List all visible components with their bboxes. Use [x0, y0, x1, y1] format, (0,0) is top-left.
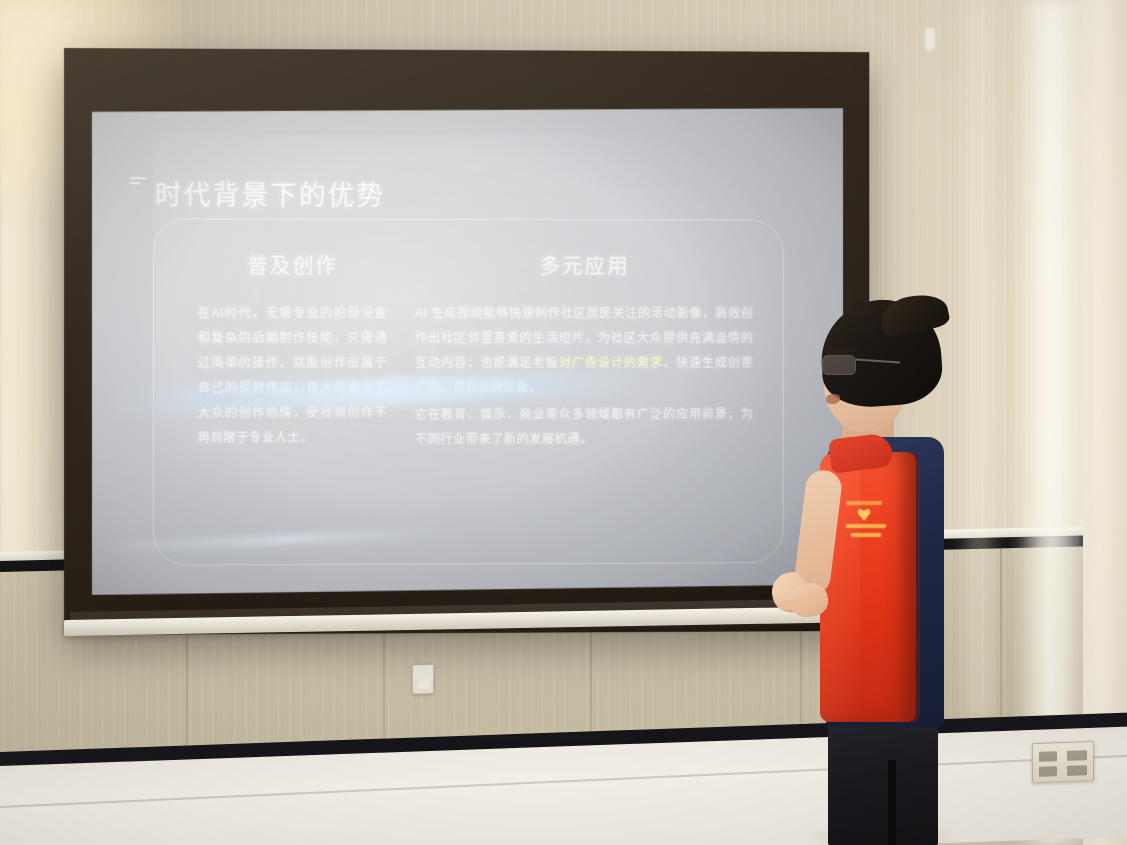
glasses-lens [822, 355, 856, 375]
emblem-text-top [846, 501, 882, 505]
heart-icon [857, 508, 871, 521]
hair-back [877, 289, 951, 338]
vest-shadow [896, 452, 920, 722]
volunteer-heart-emblem-icon [840, 498, 890, 544]
trouser-leg-gap [888, 760, 896, 845]
emblem-text-middle [846, 524, 886, 528]
presentation-room-photo: 时代背景下的优势 普及创作 在AI时代，无需专业的拍摄设备和复杂的后期制作技能，… [0, 0, 1127, 845]
emblem-text-bottom [851, 533, 881, 537]
presenter-figure [0, 0, 1127, 845]
mouth [826, 394, 840, 404]
glasses-temple-arm [856, 358, 900, 363]
glasses-icon [820, 355, 894, 377]
